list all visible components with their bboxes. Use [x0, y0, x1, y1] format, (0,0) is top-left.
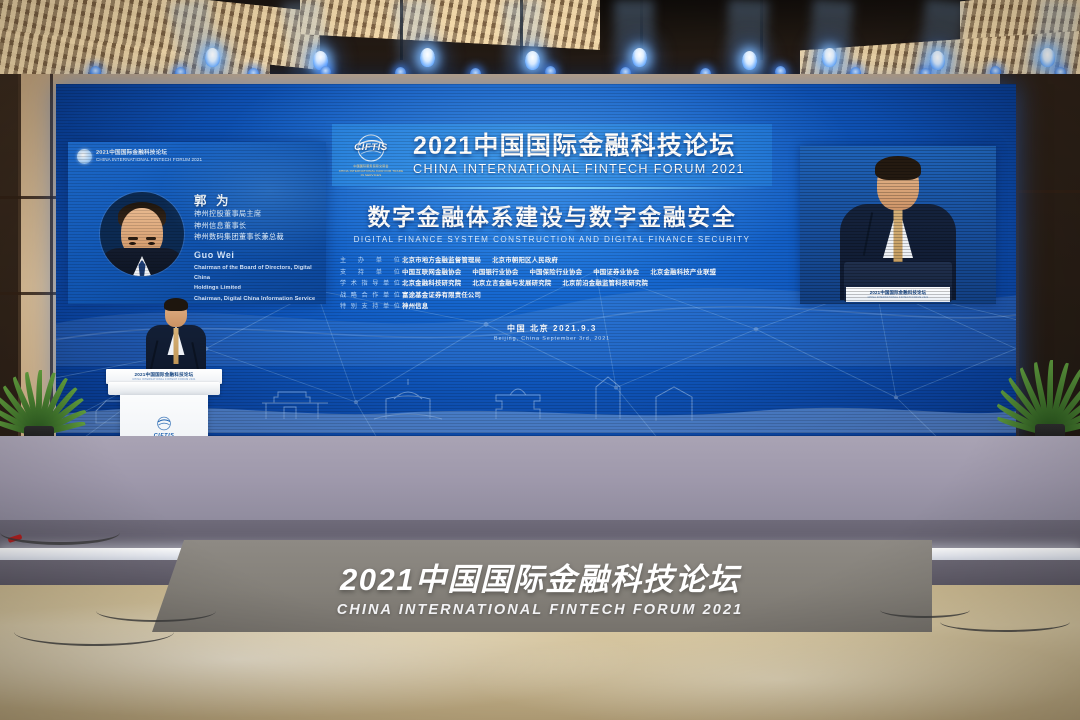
speaker-titles-en: Chairman of the Board of Directors, Digi…	[194, 263, 320, 304]
organizer-row: 主办单位北京市地方金融监督管理局北京市朝阳区人民政府	[340, 255, 772, 264]
speaker-name-cn: 郭 为	[194, 190, 231, 209]
feed-podium	[844, 262, 952, 302]
event-theme-cn: 数字金融体系建设与数字金融安全	[332, 198, 772, 232]
organizer-row: 特别支持单位神州信息	[340, 301, 772, 310]
stage-banner-cn: 2021中国国际金融科技论坛	[0, 554, 1080, 599]
speaker-titles-cn: 神州控股董事局主席神州信息董事长神州数码集团董事长兼总裁	[194, 208, 284, 243]
podium-top	[108, 382, 220, 395]
organizer-name: 北京金融科技研究院	[402, 278, 461, 287]
floor-cable	[14, 618, 174, 646]
podium-ciftis-logo	[151, 415, 177, 431]
speaker-name-en: Guo Wei	[194, 250, 235, 260]
portrait-brow	[128, 237, 138, 240]
portrait-eye	[148, 242, 155, 245]
decorative-plant	[1020, 360, 1080, 446]
ciftis-emblem-icon	[77, 149, 92, 164]
podium-globe-icon	[152, 416, 176, 431]
organizer-values: 北京金融科技研究院北京立言金融与发展研究院北京前沿金融监管科技研究院	[402, 278, 648, 287]
organizer-label: 特别支持单位	[340, 301, 402, 310]
event-date-cn: 中国 北京 2021.9.3	[332, 323, 772, 334]
organizer-name: 神州信息	[402, 301, 428, 310]
event-theme-en: DIGITAL FINANCE SYSTEM CONSTRUCTION AND …	[332, 235, 772, 244]
card-event-logo-en: CHINA INTERNATIONAL FINTECH FORUM 2021	[96, 157, 202, 162]
podium-nameplate-en: CHINA INTERNATIONAL FINTECH FORUM 2021	[132, 378, 195, 381]
feed-podium-nameplate: 2021中国国际金融科技论坛 CHINA INTERNATIONAL FINTE…	[846, 287, 950, 302]
event-title-cn: 2021中国国际金融科技论坛	[413, 133, 766, 160]
organizer-name: 中国互联网金融协会	[402, 267, 461, 276]
portrait-eye	[129, 242, 136, 245]
organizer-label: 战略合作单位	[340, 290, 402, 299]
feed-nameplate-cn: 2021中国国际金融科技论坛	[870, 290, 926, 296]
event-banner: CIFTIS 中国国际服务贸易交易会 CHINA INTERNATIONAL F…	[332, 124, 772, 342]
organizer-values: 富途基金证券有限责任公司	[402, 290, 481, 299]
wall-seam	[1016, 190, 1080, 193]
organizer-name: 北京立言金融与发展研究院	[472, 278, 551, 287]
speaker-title-en-line: Chairman of the Board of Directors, Digi…	[194, 263, 320, 283]
decorative-plant	[6, 372, 72, 446]
organizer-row: 学术指导单位北京金融科技研究院北京立言金融与发展研究院北京前沿金融监管科技研究院	[340, 278, 772, 287]
organizer-row: 支持单位中国互联网金融协会中国银行业协会中国保险行业协会中国证券业协会北京金融科…	[340, 267, 772, 276]
wall-seam	[0, 292, 56, 295]
live-video-feed: 2021中国国际金融科技论坛 CHINA INTERNATIONAL FINTE…	[800, 146, 996, 304]
event-date-en: Beijing, China September 3rd, 2021	[332, 336, 772, 342]
feed-speaker-shirt	[883, 204, 913, 258]
portrait-tie	[139, 260, 146, 276]
stage-light	[420, 48, 435, 67]
ciftis-badge-icon: CIFTIS	[348, 133, 394, 163]
speaker-title-cn-line: 神州数码集团董事长兼总裁	[194, 231, 284, 243]
stage-light	[930, 51, 945, 70]
organizer-values: 北京市地方金融监督管理局北京市朝阳区人民政府	[402, 255, 558, 264]
conference-stage-photo: 2021中国国际金融科技论坛 CHINA INTERNATIONAL FINTE…	[0, 0, 1080, 720]
organizer-name: 北京市地方金融监督管理局	[402, 255, 481, 264]
feed-speaker-sash	[894, 208, 903, 270]
portrait-mouth	[134, 258, 150, 265]
ciftis-sub-en: CHINA INTERNATIONAL FAIR FOR TRADE IN SE…	[338, 169, 404, 177]
speaker-title-cn-line: 神州控股董事局主席	[194, 208, 284, 220]
organizer-row: 战略合作单位富途基金证券有限责任公司	[340, 290, 772, 299]
organizer-name: 北京市朝阳区人民政府	[492, 255, 558, 264]
ceiling-panel	[300, 0, 600, 50]
organizer-name: 中国银行业协会	[472, 267, 518, 276]
feed-speaker-head	[877, 160, 919, 210]
floor-cable	[0, 520, 120, 545]
event-theme-block: 数字金融体系建设与数字金融安全 DIGITAL FINANCE SYSTEM C…	[332, 198, 772, 244]
stage-light	[822, 48, 837, 67]
organizer-values: 中国互联网金融协会中国银行业协会中国保险行业协会中国证券业协会北京金融科技产业联…	[402, 267, 716, 276]
feed-speaker-hair	[875, 156, 921, 180]
speaker-title-en-line: Holdings Limited	[194, 283, 320, 293]
organizer-label: 主办单位	[340, 255, 402, 264]
card-event-logo-text: 2021中国国际金融科技论坛 CHINA INTERNATIONAL FINTE…	[96, 150, 202, 164]
organizer-name: 北京前沿金融监管科技研究院	[562, 278, 648, 287]
stage-light	[1040, 48, 1055, 67]
organizer-label: 学术指导单位	[340, 278, 402, 287]
organizer-values: 神州信息	[402, 301, 428, 310]
portrait-face	[121, 208, 163, 258]
speaker-title-en-line: Chairman, Digital China Information Serv…	[194, 294, 320, 304]
stage-light	[742, 51, 757, 70]
speaker-sash	[174, 328, 179, 364]
wall-seam	[0, 196, 56, 199]
ciftis-sub-cn: 中国国际服务贸易交易会	[353, 164, 388, 168]
organizer-name: 富途基金证券有限责任公司	[402, 290, 481, 299]
stage-deck	[0, 436, 1080, 526]
ciftis-wordmark: CIFTIS	[354, 142, 388, 153]
event-title-block: 2021中国国际金融科技论坛 CHINA INTERNATIONAL FINTE…	[413, 133, 766, 177]
organizer-name: 中国证券业协会	[593, 267, 639, 276]
organizer-label: 支持单位	[340, 267, 402, 276]
floor-cable	[96, 600, 216, 622]
speaker-portrait-avatar	[100, 192, 184, 276]
stage-light	[525, 51, 540, 70]
event-title-en: CHINA INTERNATIONAL FINTECH FORUM 2021	[413, 162, 766, 177]
feed-nameplate-en: CHINA INTERNATIONAL FINTECH FORUM 2021	[868, 296, 929, 299]
speaker-title-cn-line: 神州信息董事长	[194, 220, 284, 232]
event-date-block: 中国 北京 2021.9.3 Beijing, China September …	[332, 323, 772, 342]
floor-cable	[880, 602, 970, 618]
portrait-suit	[100, 248, 184, 276]
ciftis-logo: CIFTIS 中国国际服务贸易交易会 CHINA INTERNATIONAL F…	[338, 133, 404, 177]
stage-light	[632, 48, 647, 67]
speaker-info-card: 2021中国国际金融科技论坛 CHINA INTERNATIONAL FINTE…	[68, 142, 326, 304]
organizer-name: 中国保险行业协会	[529, 267, 582, 276]
event-title-bar: CIFTIS 中国国际服务贸易交易会 CHINA INTERNATIONAL F…	[332, 124, 772, 186]
card-event-logo: 2021中国国际金融科技论坛 CHINA INTERNATIONAL FINTE…	[77, 149, 202, 164]
card-event-logo-cn: 2021中国国际金融科技论坛	[96, 150, 167, 156]
feed-speaker-figure	[833, 160, 963, 300]
feed-microphone-icon	[863, 212, 873, 256]
organizer-list: 主办单位北京市地方金融监督管理局北京市朝阳区人民政府支持单位中国互联网金融协会中…	[340, 255, 772, 310]
portrait-brow	[146, 237, 156, 240]
stage-light	[205, 48, 220, 67]
feed-speaker-suit	[840, 204, 956, 300]
portrait-shirt	[130, 256, 154, 276]
speaker-hair	[164, 298, 188, 311]
portrait-hair	[118, 202, 166, 230]
organizer-name: 北京金融科技产业联盟	[650, 267, 716, 276]
